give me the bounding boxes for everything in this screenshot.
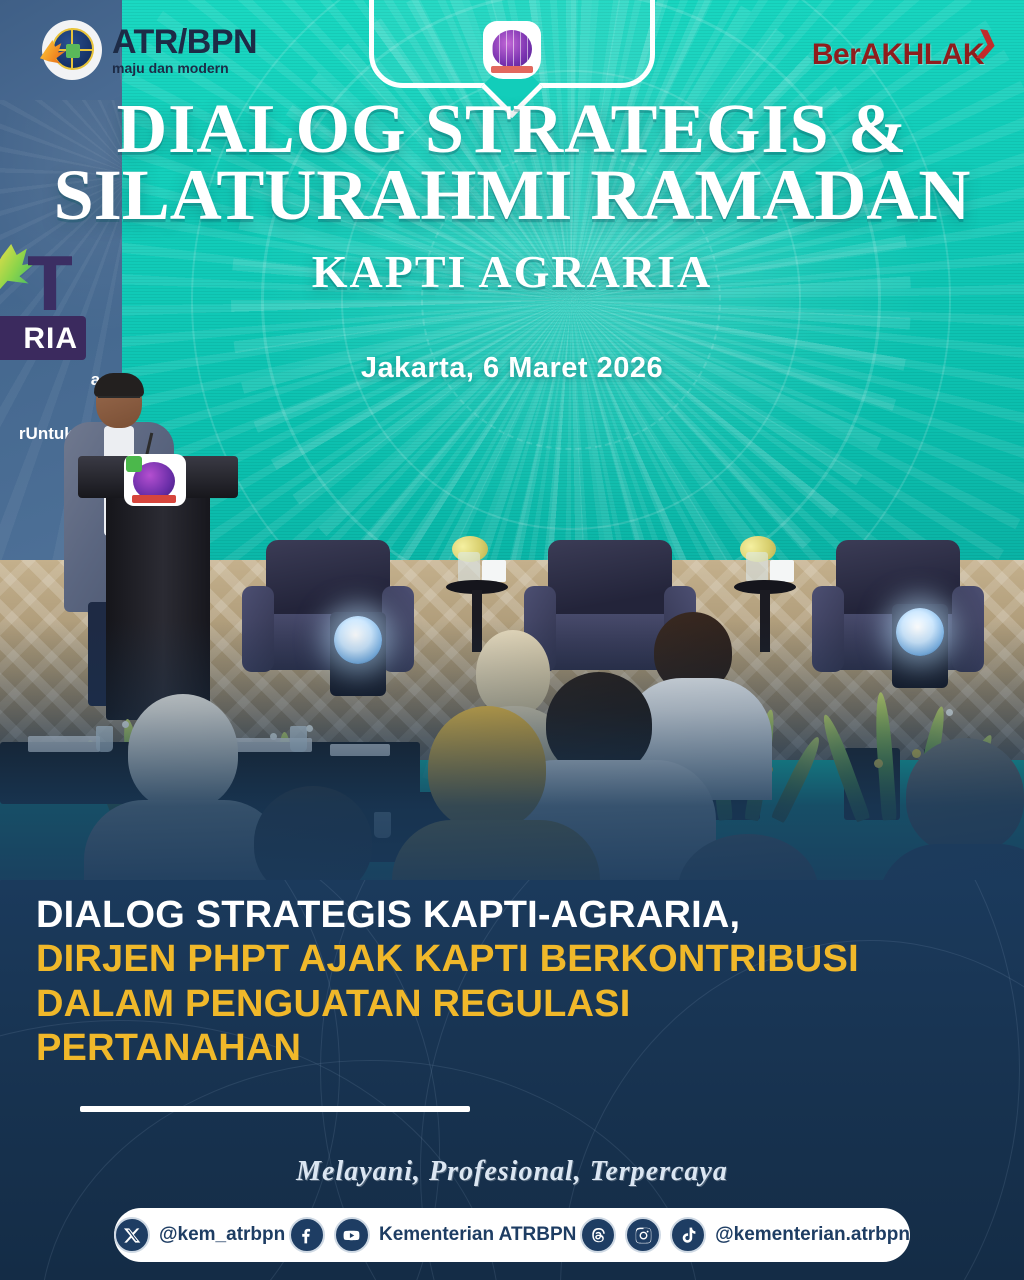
motto-tagline: Melayani, Profesional, Terpercaya [0, 1156, 1024, 1188]
ornament-globe-emblem-icon [483, 21, 541, 79]
event-title-block: DIALOG STRATEGIS & SILATURAHMI RAMADAN K… [0, 98, 1024, 385]
event-subtitle: KAPTI AGRARIA [0, 245, 1024, 298]
social-media-bar: @kem_atrbpn Kementerian ATRBPN @kemente [114, 1208, 910, 1262]
threads-icon[interactable] [580, 1217, 616, 1253]
berakhlak-logo: BerAKHLAK ❯ [812, 38, 984, 72]
social-group-facebook-youtube: Kementerian ATRBPN [289, 1217, 576, 1253]
event-title: DIALOG STRATEGIS & SILATURAHMI RAMADAN [0, 98, 1024, 229]
headline-line-4: PERTANAHAN [36, 1026, 996, 1070]
berakhlak-chevron-icon: ❯ [972, 25, 1000, 61]
headline-line-2: DIRJEN PHPT AJAK KAPTI BERKONTRIBUSI [36, 937, 996, 981]
atrbpn-logo-tagline: maju dan modern [112, 61, 257, 75]
social-group-x: @kem_atrbpn [114, 1217, 285, 1253]
headline-line-3: DALAM PENGUATAN REGULASI [36, 982, 996, 1026]
event-title-line2: SILATURAHMI RAMADAN [0, 162, 1024, 228]
social-handle-threads-instagram-tiktok[interactable]: @kementerian.atrbpn [715, 1224, 910, 1246]
photo-bottom-fade [0, 620, 1024, 920]
podium-emblem-icon [124, 454, 186, 506]
atrbpn-logo-name: ATR/BPN [112, 25, 257, 59]
youtube-icon[interactable] [334, 1217, 370, 1253]
ornamental-frame [369, 0, 655, 88]
social-group-threads-instagram-tiktok: @kementerian.atrbpn [580, 1217, 910, 1253]
instagram-icon[interactable] [625, 1217, 661, 1253]
poster-canvas: RIA aan an rUntukSemu [0, 0, 1024, 1280]
headline-line-1: DIALOG STRATEGIS KAPTI-AGRARIA, [36, 893, 996, 937]
social-handle-facebook-youtube[interactable]: Kementerian ATRBPN [379, 1224, 576, 1246]
article-headline: DIALOG STRATEGIS KAPTI-AGRARIA, DIRJEN P… [36, 893, 996, 1071]
event-date: Jakarta, 6 Maret 2026 [0, 352, 1024, 385]
berakhlak-label: BerAKHLAK [812, 38, 984, 72]
tiktok-icon[interactable] [670, 1217, 706, 1253]
atrbpn-globe-emblem-icon [42, 20, 102, 80]
headline-divider [80, 1106, 470, 1112]
social-handle-x[interactable]: @kem_atrbpn [159, 1224, 285, 1246]
atrbpn-logo: ATR/BPN maju dan modern [42, 14, 302, 86]
facebook-icon[interactable] [289, 1217, 325, 1253]
x-twitter-icon[interactable] [114, 1217, 150, 1253]
event-title-line1: DIALOG STRATEGIS & [0, 98, 1024, 162]
